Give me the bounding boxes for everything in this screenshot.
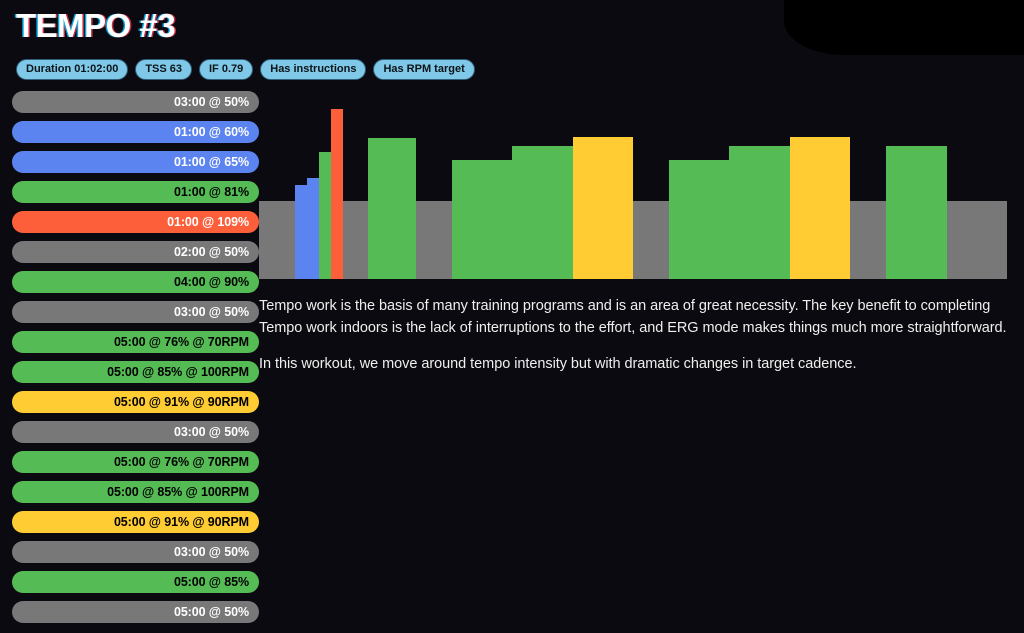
page-header: TEMPO #3 Duration 01:02:00TSS 63IF 0.79H… [0,0,1024,80]
description-paragraph: In this workout, we move around tempo in… [259,354,1007,375]
badge: Has RPM target [373,59,474,80]
badge-row: Duration 01:02:00TSS 63IF 0.79Has instru… [16,59,1024,80]
body-split: 03:00 @ 50%01:00 @ 60%01:00 @ 65%01:00 @… [0,91,1024,623]
badge: TSS 63 [135,59,192,80]
interval-list[interactable]: 03:00 @ 50%01:00 @ 60%01:00 @ 65%01:00 @… [0,91,259,623]
right-pane: Tempo work is the basis of many training… [259,91,1024,623]
chart-bar[interactable] [512,146,572,279]
chart-bar[interactable] [295,185,307,279]
chart-bar[interactable] [416,201,452,279]
interval-row[interactable]: 05:00 @ 85% @ 100RPM [12,481,259,503]
interval-row[interactable]: 05:00 @ 85% [12,571,259,593]
interval-row[interactable]: 01:00 @ 109% [12,211,259,233]
description-paragraph: Tempo work is the basis of many training… [259,296,1007,339]
chart-bar[interactable] [790,137,850,280]
chart-bar[interactable] [573,137,633,280]
chart-bar[interactable] [729,146,789,279]
interval-row[interactable]: 05:00 @ 50% [12,601,259,623]
chart-bar[interactable] [259,201,295,279]
interval-row[interactable]: 05:00 @ 91% @ 90RPM [12,391,259,413]
chart-bar[interactable] [343,201,367,279]
interval-row[interactable]: 05:00 @ 76% @ 70RPM [12,331,259,353]
interval-row[interactable]: 03:00 @ 50% [12,421,259,443]
interval-row[interactable]: 05:00 @ 91% @ 90RPM [12,511,259,533]
interval-row[interactable]: 04:00 @ 90% [12,271,259,293]
chart-bar[interactable] [331,109,343,280]
interval-row[interactable]: 05:00 @ 85% @ 100RPM [12,361,259,383]
workout-description: Tempo work is the basis of many training… [259,296,1007,375]
chart-bar[interactable] [947,201,1007,279]
interval-row[interactable]: 01:00 @ 81% [12,181,259,203]
chart-bar[interactable] [633,201,669,279]
interval-row[interactable]: 05:00 @ 76% @ 70RPM [12,451,259,473]
badge: IF 0.79 [199,59,253,80]
workout-page: TEMPO #3 Duration 01:02:00TSS 63IF 0.79H… [0,0,1024,633]
chart-bar[interactable] [452,160,512,279]
chart-bar[interactable] [669,160,729,279]
interval-row[interactable]: 02:00 @ 50% [12,241,259,263]
interval-row[interactable]: 03:00 @ 50% [12,91,259,113]
chart-bar[interactable] [886,146,946,279]
badge: Has instructions [260,59,366,80]
page-title: TEMPO #3 [16,6,1024,46]
interval-row[interactable]: 03:00 @ 50% [12,301,259,323]
badge: Duration 01:02:00 [16,59,128,80]
chart-bar[interactable] [319,152,331,279]
workout-profile-chart[interactable] [259,91,1007,279]
interval-row[interactable]: 03:00 @ 50% [12,541,259,563]
chart-bar[interactable] [307,178,319,280]
interval-row[interactable]: 01:00 @ 60% [12,121,259,143]
chart-bar[interactable] [850,201,886,279]
chart-bar[interactable] [368,138,416,279]
interval-row[interactable]: 01:00 @ 65% [12,151,259,173]
